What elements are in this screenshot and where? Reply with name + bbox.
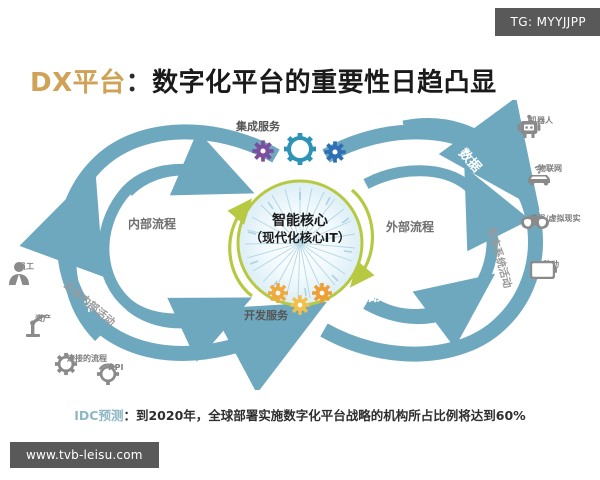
tg-badge: TG: MYYJJPP <box>495 8 600 36</box>
robot-icon <box>516 114 542 140</box>
left-loop-inner-arc <box>104 169 236 322</box>
footnote-accent: IDC预测 <box>74 408 123 423</box>
icon-api: API <box>96 362 136 372</box>
footnote-body: ：到2020年，全球部署实施数字化平台战略的机构所占比例将达到60% <box>123 408 525 423</box>
page-title: DX平台：数字化平台的重要性日趋凸显 <box>30 62 497 99</box>
footnote: IDC预测：到2020年，全球部署实施数字化平台战略的机构所占比例将达到60% <box>0 405 600 424</box>
integration-services-label: 集成服务 <box>236 118 280 134</box>
employee-icon <box>6 260 32 286</box>
infinity-loop-diagram: 数据 数据 洞察 行动 内部流程 外部流程 集成服务 开发服务 企业内部活动 生… <box>0 100 600 390</box>
watermark: www.tvb-leisu.com <box>10 442 159 468</box>
robot-arm-icon <box>22 312 48 338</box>
connected-process-icon <box>54 352 78 376</box>
core-subtitle: （现代化核心IT） <box>0 227 600 246</box>
iot-car-icon <box>524 162 554 188</box>
icon-iot: 物联网 <box>524 162 576 174</box>
icon-ar-vr: 增强/虚拟现实 <box>518 212 592 224</box>
title-accent: DX平台 <box>30 68 126 98</box>
icon-robot: 机器人 <box>516 114 566 126</box>
development-services-label: 开发服务 <box>244 307 288 323</box>
slide-canvas: TG: MYYJJPP DX平台：数字化平台的重要性日趋凸显 <box>0 0 600 480</box>
title-main: 数字化平台的重要性日趋凸显 <box>152 68 497 98</box>
icon-mobile: 移动 <box>528 258 574 270</box>
icon-employee: 员工 <box>6 260 46 272</box>
icon-asset: 资产 <box>22 312 64 324</box>
mobile-icon <box>528 258 558 282</box>
api-gear-icon <box>96 362 120 386</box>
ar-vr-icon <box>518 212 552 234</box>
title-colon: ： <box>126 68 153 98</box>
